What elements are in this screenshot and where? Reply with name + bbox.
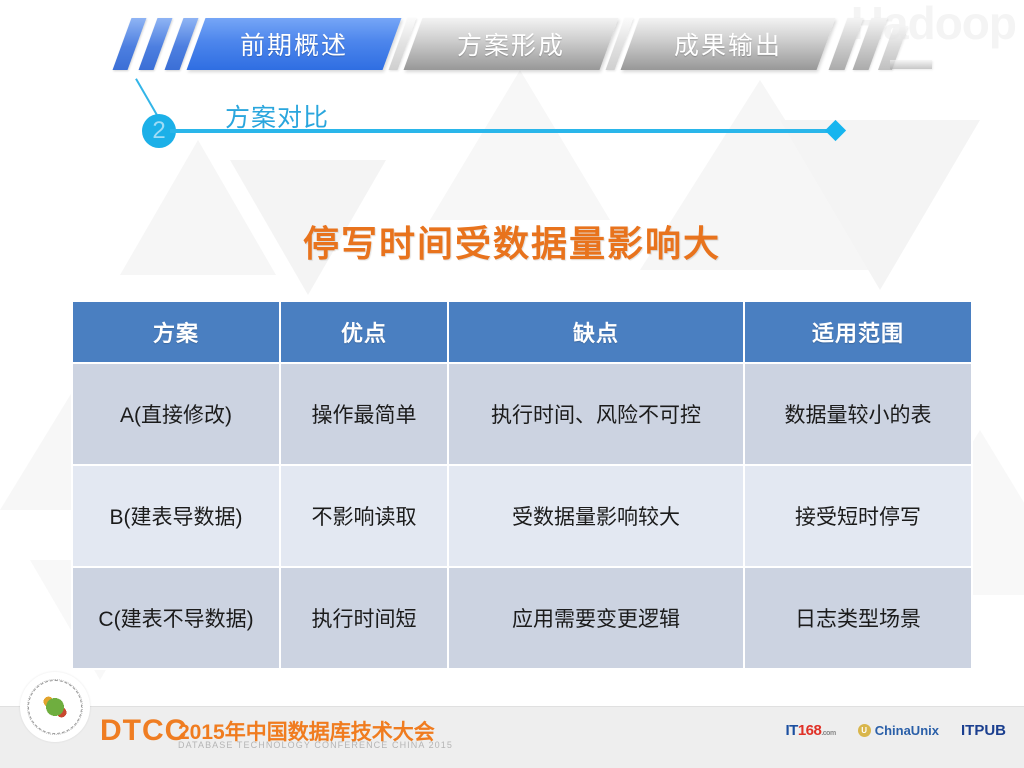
table-cell: B(建表导数据) [72,465,280,567]
table-header-cell: 优点 [280,301,448,363]
table-header-cell: 适用范围 [744,301,972,363]
table-cell: 执行时间短 [280,567,448,669]
table-header-row: 方案 优点 缺点 适用范围 [72,301,972,363]
table-row: B(建表导数据) 不影响读取 受数据量影响较大 接受短时停写 [72,465,972,567]
tab-fanganxingcheng[interactable]: 方案形成 [404,18,619,70]
chinaunix-logo[interactable]: U ChinaUnix [858,723,939,738]
tab-label: 前期概述 [240,26,348,62]
it168-logo-text-a: IT [785,722,797,739]
page-title: 停写时间受数据量影响大 [0,215,1024,267]
it168-logo[interactable]: IT168.com [785,722,835,739]
table-header-cell: 缺点 [448,301,744,363]
table-cell: 不影响读取 [280,465,448,567]
table-cell: 受数据量影响较大 [448,465,744,567]
table-cell: A(直接修改) [72,363,280,465]
itpub-logo-text-a: IT [961,722,974,739]
tab-chengguoshuchu[interactable]: 成果输出 [621,18,836,70]
tab-qianqigaishu[interactable]: 前期概述 [187,18,402,70]
itpub-logo[interactable]: ITPUB [961,722,1006,739]
table-cell: 操作最简单 [280,363,448,465]
conference-name-en: DATABASE TECHNOLOGY CONFERENCE CHINA 201… [178,740,453,750]
table-cell: 日志类型场景 [744,567,972,669]
conference-seal [20,672,90,742]
it168-logo-suffix: .com [821,730,835,737]
partner-logos: IT168.com U ChinaUnix ITPUB [785,722,1006,739]
it168-logo-text-b: 168 [798,722,822,739]
comparison-table: 方案 优点 缺点 适用范围 A(直接修改) 操作最简单 执行时间、风险不可控 数… [71,300,973,670]
tab-label: 方案形成 [457,26,565,62]
nav-end-stripe [890,60,932,69]
table-cell: 数据量较小的表 [744,363,972,465]
nav-ribbon: 前期概述 方案形成 成果输出 [0,18,1024,70]
table-cell: C(建表不导数据) [72,567,280,669]
section-title: 方案对比 [225,98,329,134]
table-cell: 应用需要变更逻辑 [448,567,744,669]
slide-canvas: Hadoop 前期概述 方案形成 成果输出 2 方案对比 停写时间受数据量影响大 [0,0,1024,768]
seal-ring-icon [28,680,82,734]
table-row: A(直接修改) 操作最简单 执行时间、风险不可控 数据量较小的表 [72,363,972,465]
chinaunix-mark-icon: U [858,724,871,737]
bg-triangle [430,70,610,220]
table-cell: 执行时间、风险不可控 [448,363,744,465]
section-rule-diamond-icon [825,120,846,141]
tab-label: 成果输出 [674,26,782,62]
table-header-cell: 方案 [72,301,280,363]
table-cell: 接受短时停写 [744,465,972,567]
table-row: C(建表不导数据) 执行时间短 应用需要变更逻辑 日志类型场景 [72,567,972,669]
dtcc-brand: DTCC [100,714,187,748]
itpub-logo-text-b: PUB [974,722,1006,739]
chinaunix-logo-text: ChinaUnix [875,723,939,738]
